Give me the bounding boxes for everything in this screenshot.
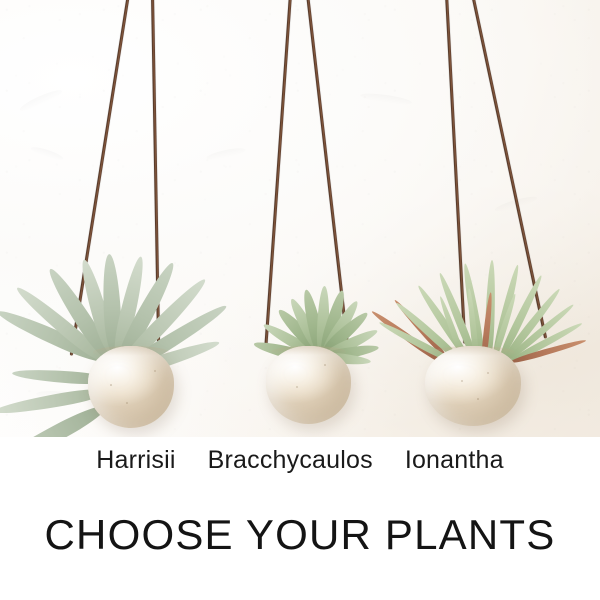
product-photo bbox=[0, 0, 600, 437]
pot-rim bbox=[271, 346, 346, 358]
ceramic-pot bbox=[88, 346, 174, 428]
pot-rim bbox=[431, 346, 515, 359]
hanging-planter-harrisii[interactable] bbox=[0, 0, 240, 437]
ceramic-pot bbox=[425, 346, 521, 426]
pot-speck bbox=[487, 372, 489, 374]
species-label-harrisii[interactable]: Harrisii bbox=[96, 446, 175, 475]
pot-speck bbox=[324, 364, 326, 366]
pot-speck bbox=[461, 380, 463, 382]
pot-rim bbox=[93, 346, 169, 359]
pot-speck bbox=[154, 370, 156, 372]
hanging-planter-ionantha[interactable] bbox=[390, 0, 600, 437]
pot-speck bbox=[110, 384, 112, 386]
pot-speck bbox=[126, 402, 128, 404]
choose-your-plants-card: Harrisii Bracchycaulos Ionantha CHOOSE Y… bbox=[0, 0, 600, 600]
species-label-row: Harrisii Bracchycaulos Ionantha bbox=[0, 446, 600, 475]
species-label-bracchycaulos[interactable]: Bracchycaulos bbox=[208, 446, 373, 475]
caption-band: Harrisii Bracchycaulos Ionantha CHOOSE Y… bbox=[0, 437, 600, 600]
species-label-ionantha[interactable]: Ionantha bbox=[405, 446, 504, 475]
headline: CHOOSE YOUR PLANTS bbox=[0, 511, 600, 559]
ceramic-pot bbox=[266, 346, 351, 424]
pot-speck bbox=[296, 386, 298, 388]
pot-speck bbox=[477, 398, 479, 400]
